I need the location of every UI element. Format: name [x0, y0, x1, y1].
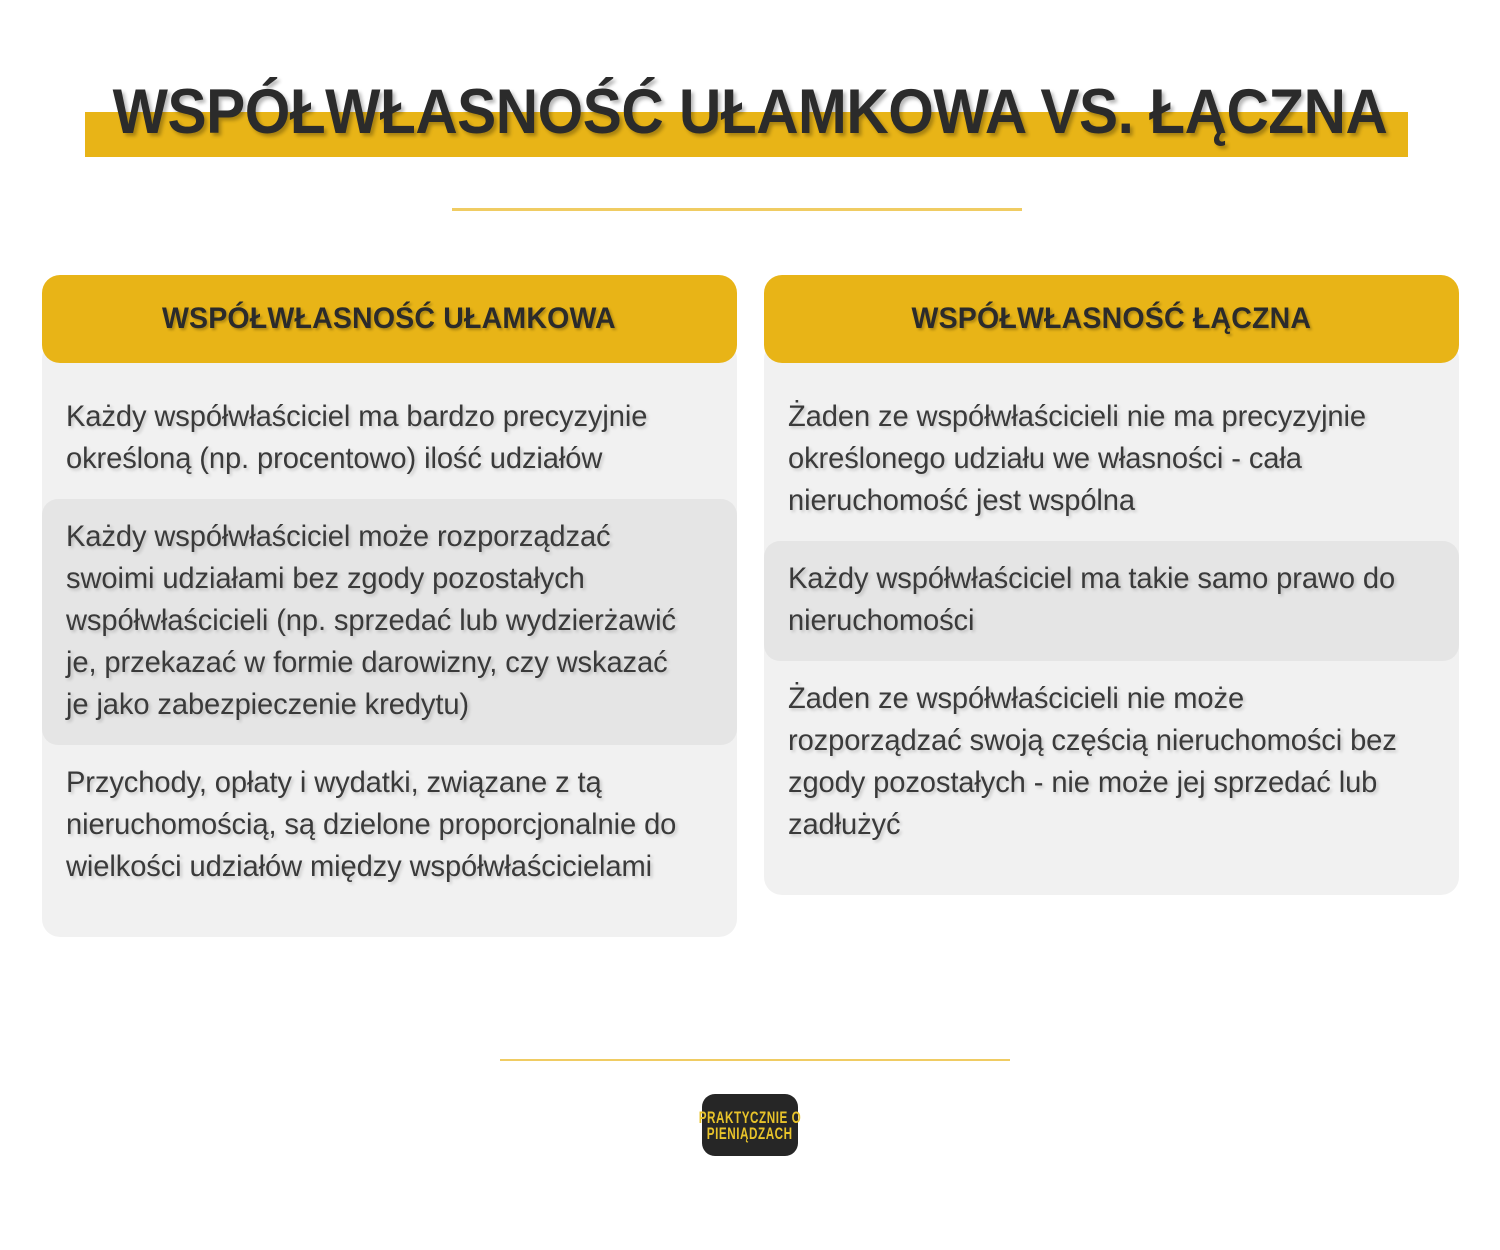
- list-item-text: Żaden ze współwłaścicieli nie ma precyzy…: [788, 396, 1416, 522]
- list-item: Żaden ze współwłaścicieli nie ma precyzy…: [764, 379, 1459, 541]
- brand-logo: PRAKTYCZNIE O PIENIĄDZACH: [702, 1094, 798, 1156]
- brand-logo-line-2: PIENIĄDZACH: [707, 1124, 793, 1143]
- column-body-joint: Żaden ze współwłaścicieli nie ma precyzy…: [764, 341, 1459, 895]
- column-header-joint: WSPÓŁWŁASNOŚĆ ŁĄCZNA: [764, 275, 1459, 363]
- column-joint-ownership: WSPÓŁWŁASNOŚĆ ŁĄCZNA Żaden ze współwłaśc…: [764, 275, 1459, 937]
- list-item-text: Żaden ze współwłaścicieli nie może rozpo…: [788, 678, 1416, 846]
- divider-bottom: [500, 1059, 1010, 1061]
- column-body-fractional: Każdy współwłaściciel ma bardzo precyzyj…: [42, 341, 737, 937]
- column-fractional-ownership: WSPÓŁWŁASNOŚĆ UŁAMKOWA Każdy współwłaści…: [42, 275, 737, 937]
- list-item-text: Każdy współwłaściciel ma takie samo praw…: [788, 558, 1416, 642]
- list-item-text: Każdy współwłaściciel ma bardzo precyzyj…: [66, 396, 694, 480]
- list-item-text: Każdy współwłaściciel może rozporządzać …: [66, 516, 694, 726]
- list-item-text: Przychody, opłaty i wydatki, związane z …: [66, 762, 694, 888]
- page-title-block: WSPÓŁWŁASNOŚĆ UŁAMKOWA VS. ŁĄCZNA: [0, 72, 1500, 172]
- comparison-columns: WSPÓŁWŁASNOŚĆ UŁAMKOWA Każdy współwłaści…: [0, 275, 1500, 937]
- list-item: Żaden ze współwłaścicieli nie może rozpo…: [764, 661, 1459, 865]
- page-title: WSPÓŁWŁASNOŚĆ UŁAMKOWA VS. ŁĄCZNA: [53, 72, 1448, 152]
- column-header-label: WSPÓŁWŁASNOŚĆ UŁAMKOWA: [162, 302, 616, 336]
- list-item: Przychody, opłaty i wydatki, związane z …: [42, 745, 737, 907]
- list-item: Każdy współwłaściciel może rozporządzać …: [42, 499, 737, 745]
- column-header-label: WSPÓŁWŁASNOŚĆ ŁĄCZNA: [911, 302, 1311, 336]
- list-item: Każdy współwłaściciel ma bardzo precyzyj…: [42, 379, 737, 499]
- list-item: Każdy współwłaściciel ma takie samo praw…: [764, 541, 1459, 661]
- divider-top: [452, 208, 1022, 211]
- infographic-page: { "title": { "text": "WSPÓŁWŁASNOŚĆ UŁAM…: [0, 0, 1500, 1250]
- column-header-fractional: WSPÓŁWŁASNOŚĆ UŁAMKOWA: [42, 275, 737, 363]
